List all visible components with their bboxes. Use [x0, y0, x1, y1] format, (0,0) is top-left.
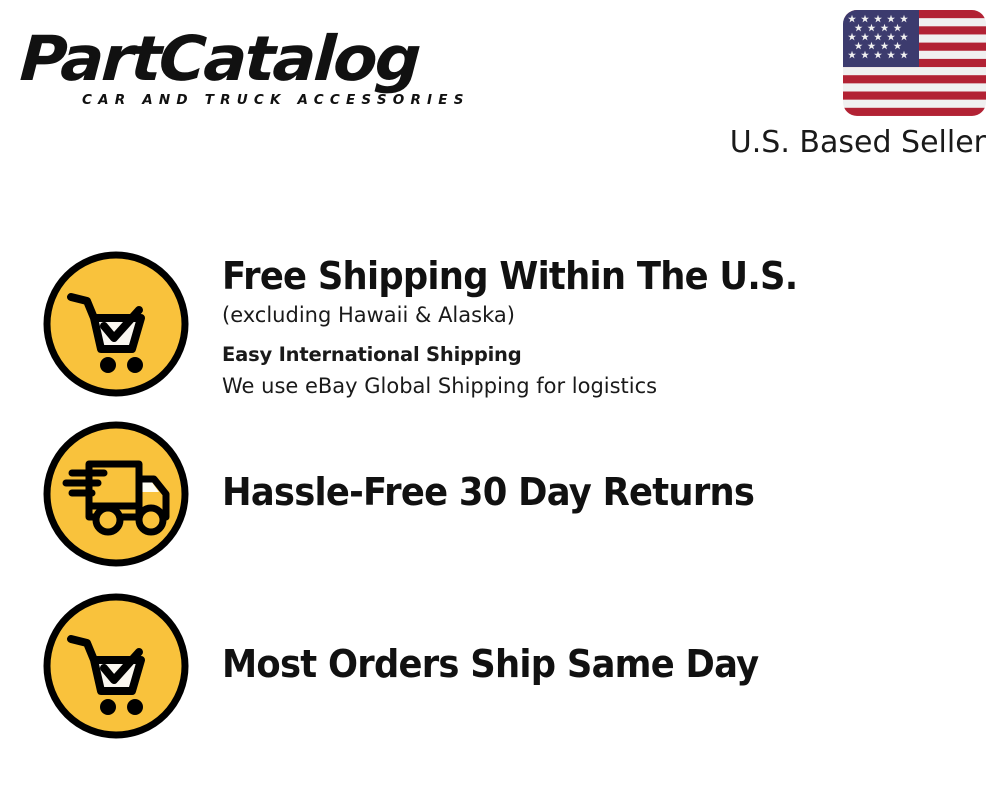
shopping-cart-check-icon [42, 250, 190, 398]
feature-subheading-international: Easy International Shipping [222, 340, 841, 370]
us-flag-icon [843, 10, 986, 116]
feature-heading: Hassle-Free 30 Day Returns [222, 470, 754, 514]
feature-row: Free Shipping Within The U.S. (excluding… [0, 250, 1000, 401]
feature-heading: Free Shipping Within The U.S. [222, 254, 797, 298]
shopping-cart-check-icon [42, 592, 190, 740]
feature-text-block: Most Orders Ship Same Day [222, 592, 799, 686]
brand-tagline: CAR AND TRUCK ACCESSORIES [82, 92, 470, 108]
us-based-seller-label: U.S. Based Seller [714, 125, 986, 161]
feature-subtext-logistics: We use eBay Global Shipping for logistic… [222, 371, 841, 401]
brand-logo[interactable]: PartCatalog CAR AND TRUCK ACCESSORIES [22, 26, 492, 116]
delivery-truck-icon [42, 420, 190, 568]
feature-row: Most Orders Ship Same Day [0, 592, 1000, 740]
page-header: PartCatalog CAR AND TRUCK ACCESSORIES [0, 0, 1000, 170]
feature-text-block: Hassle-Free 30 Day Returns [222, 420, 794, 514]
feature-text-block: Free Shipping Within The U.S. (excluding… [222, 250, 841, 401]
brand-wordmark: PartCatalog [18, 26, 510, 92]
feature-row: Hassle-Free 30 Day Returns [0, 420, 1000, 568]
feature-subnote: (excluding Hawaii & Alaska) [222, 300, 841, 330]
us-based-seller-badge: U.S. Based Seller [714, 10, 986, 161]
feature-heading: Most Orders Ship Same Day [222, 642, 758, 686]
